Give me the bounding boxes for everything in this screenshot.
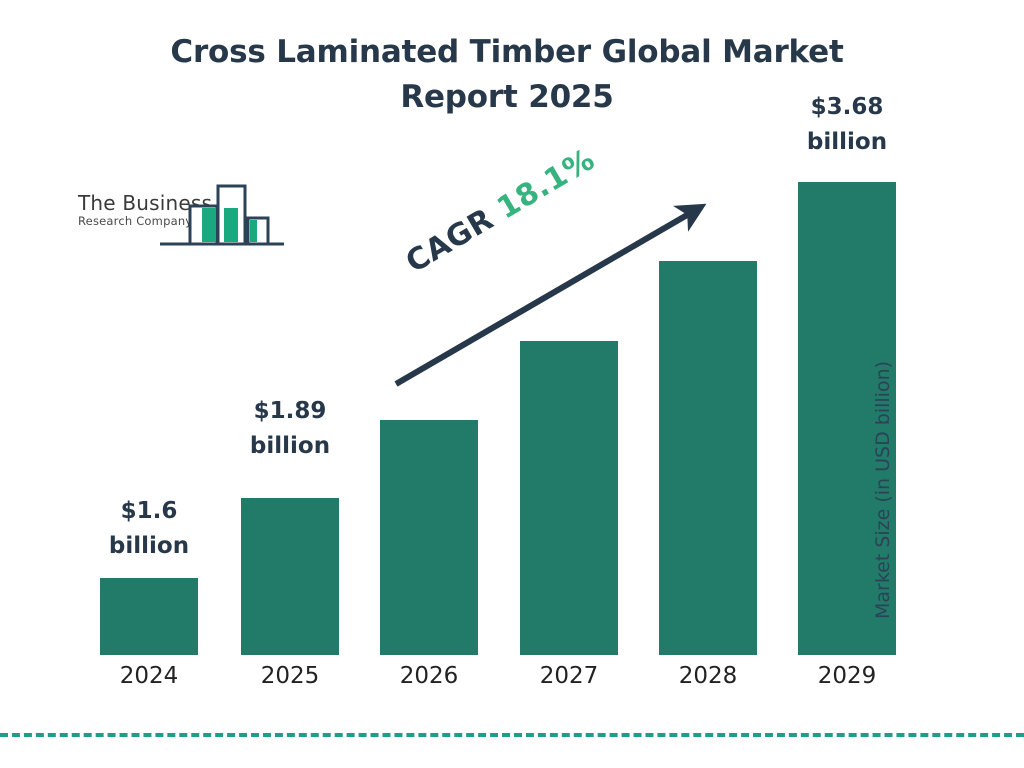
bar-label-2029-unit: billion bbox=[777, 125, 917, 160]
cagr-word: CAGR bbox=[400, 202, 500, 280]
bar-label-2029-value: $3.68 bbox=[777, 90, 917, 125]
y-axis-title: Market Size (in USD billion) bbox=[872, 330, 894, 650]
x-tick-2026: 2026 bbox=[379, 663, 479, 689]
bar-2024[interactable] bbox=[100, 578, 198, 655]
x-tick-2029: 2029 bbox=[797, 663, 897, 689]
footer-dashed-rule bbox=[0, 733, 1024, 737]
x-tick-2024: 2024 bbox=[99, 663, 199, 689]
bar-2026[interactable] bbox=[380, 420, 478, 655]
bar-label-2025: $1.89 billion bbox=[220, 394, 360, 463]
bar-2028[interactable] bbox=[659, 261, 757, 655]
cagr-annotation: CAGR 18.1% bbox=[400, 142, 601, 280]
x-tick-2028: 2028 bbox=[658, 663, 758, 689]
bar-label-2024: $1.6 billion bbox=[79, 494, 219, 563]
x-tick-2025: 2025 bbox=[240, 663, 340, 689]
chart-canvas: Cross Laminated Timber Global Market Rep… bbox=[0, 0, 1024, 768]
bar-label-2024-unit: billion bbox=[79, 529, 219, 564]
bar-label-2025-unit: billion bbox=[220, 429, 360, 464]
cagr-value: 18.1% bbox=[491, 142, 601, 226]
bar-label-2029: $3.68 billion bbox=[777, 90, 917, 159]
x-tick-2027: 2027 bbox=[519, 663, 619, 689]
bar-2027[interactable] bbox=[520, 341, 618, 655]
plot-area: $1.6 billion 2024 $1.89 billion 2025 202… bbox=[0, 0, 1024, 768]
bar-label-2025-value: $1.89 bbox=[220, 394, 360, 429]
bar-label-2024-value: $1.6 bbox=[79, 494, 219, 529]
bar-2025[interactable] bbox=[241, 498, 339, 655]
